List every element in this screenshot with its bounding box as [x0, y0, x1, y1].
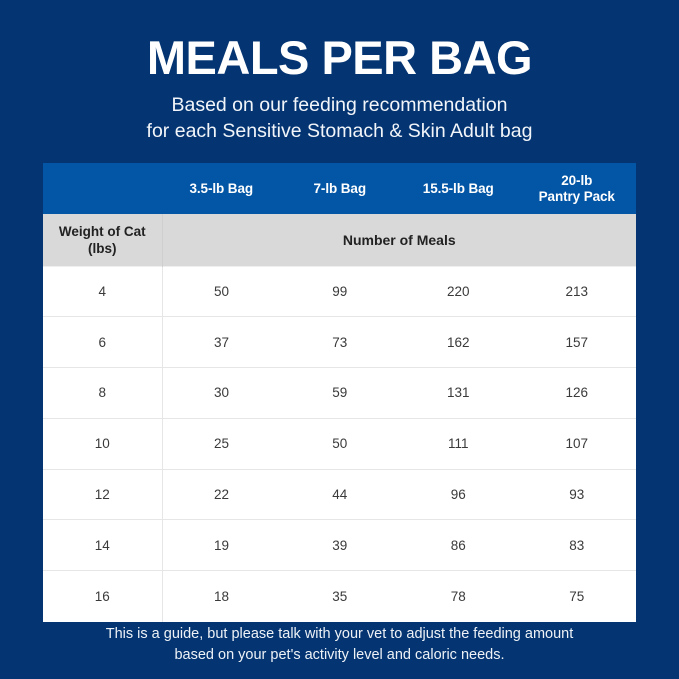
cell-weight: 4	[43, 266, 162, 317]
cell-meals: 213	[518, 266, 637, 317]
cell-meals: 19	[162, 520, 281, 571]
cell-meals: 86	[399, 520, 518, 571]
cell-meals: 50	[162, 266, 281, 317]
cell-meals: 107	[518, 418, 637, 469]
cell-meals: 39	[281, 520, 400, 571]
bag-header-7lb: 7-lb Bag	[281, 163, 400, 214]
cell-meals: 78	[399, 571, 518, 622]
bag-size-header-row: 3.5-lb Bag 7-lb Bag 15.5-lb Bag 20-lb Pa…	[43, 163, 636, 214]
cell-meals: 131	[399, 368, 518, 419]
cell-meals: 83	[518, 520, 637, 571]
weight-of-cat-header-line-1: Weight of Cat	[59, 224, 146, 239]
cell-meals: 126	[518, 368, 637, 419]
footer-line-2: based on your pet's activity level and c…	[0, 645, 679, 666]
cell-meals: 157	[518, 317, 637, 368]
number-of-meals-header: Number of Meals	[162, 214, 636, 266]
bag-header-20lb-line-2: Pantry Pack	[539, 189, 615, 204]
cell-weight: 6	[43, 317, 162, 368]
meals-table-container: 3.5-lb Bag 7-lb Bag 15.5-lb Bag 20-lb Pa…	[43, 163, 636, 613]
meals-per-bag-poster: MEALS PER BAG Based on our feeding recom…	[0, 0, 679, 679]
footer-disclaimer: This is a guide, but please talk with yo…	[0, 624, 679, 666]
bag-header-3point5lb: 3.5-lb Bag	[162, 163, 281, 214]
cell-meals: 25	[162, 418, 281, 469]
table-row: 1222449693	[43, 469, 636, 520]
table-row: 102550111107	[43, 418, 636, 469]
cell-meals: 93	[518, 469, 637, 520]
cell-meals: 50	[281, 418, 400, 469]
cell-meals: 73	[281, 317, 400, 368]
bag-header-20lb-pantry-pack: 20-lb Pantry Pack	[518, 163, 637, 214]
weight-of-cat-header-line-2: (lbs)	[88, 241, 117, 256]
cell-weight: 12	[43, 469, 162, 520]
cell-meals: 220	[399, 266, 518, 317]
footer-line-1: This is a guide, but please talk with yo…	[0, 624, 679, 645]
heading-block: MEALS PER BAG Based on our feeding recom…	[0, 0, 679, 144]
bag-header-20lb-line-1: 20-lb	[561, 173, 592, 188]
cell-meals: 96	[399, 469, 518, 520]
page-subtitle-line-2: for each Sensitive Stomach & Skin Adult …	[0, 119, 679, 145]
cell-meals: 59	[281, 368, 400, 419]
cell-meals: 35	[281, 571, 400, 622]
table-head: 3.5-lb Bag 7-lb Bag 15.5-lb Bag 20-lb Pa…	[43, 163, 636, 266]
table-row: 83059131126	[43, 368, 636, 419]
bag-header-15point5lb: 15.5-lb Bag	[399, 163, 518, 214]
table-row: 1419398683	[43, 520, 636, 571]
cell-meals: 18	[162, 571, 281, 622]
table-row: 45099220213	[43, 266, 636, 317]
cell-weight: 14	[43, 520, 162, 571]
cell-meals: 162	[399, 317, 518, 368]
cell-meals: 30	[162, 368, 281, 419]
cell-meals: 44	[281, 469, 400, 520]
weight-of-cat-header: Weight of Cat (lbs)	[43, 214, 162, 266]
table-row: 1618357875	[43, 571, 636, 622]
cell-meals: 37	[162, 317, 281, 368]
page-subtitle: Based on our feeding recommendation for …	[0, 93, 679, 144]
cell-meals: 111	[399, 418, 518, 469]
table-body: 4509922021363773162157830591311261025501…	[43, 266, 636, 622]
cell-weight: 8	[43, 368, 162, 419]
cell-meals: 75	[518, 571, 637, 622]
cell-meals: 22	[162, 469, 281, 520]
meals-table: 3.5-lb Bag 7-lb Bag 15.5-lb Bag 20-lb Pa…	[43, 163, 636, 622]
cell-weight: 10	[43, 418, 162, 469]
cell-meals: 99	[281, 266, 400, 317]
page-subtitle-line-1: Based on our feeding recommendation	[0, 93, 679, 119]
page-title: MEALS PER BAG	[0, 30, 679, 86]
bag-header-blank	[43, 163, 162, 214]
cell-weight: 16	[43, 571, 162, 622]
table-row: 63773162157	[43, 317, 636, 368]
meals-subheader-row: Weight of Cat (lbs) Number of Meals	[43, 214, 636, 266]
